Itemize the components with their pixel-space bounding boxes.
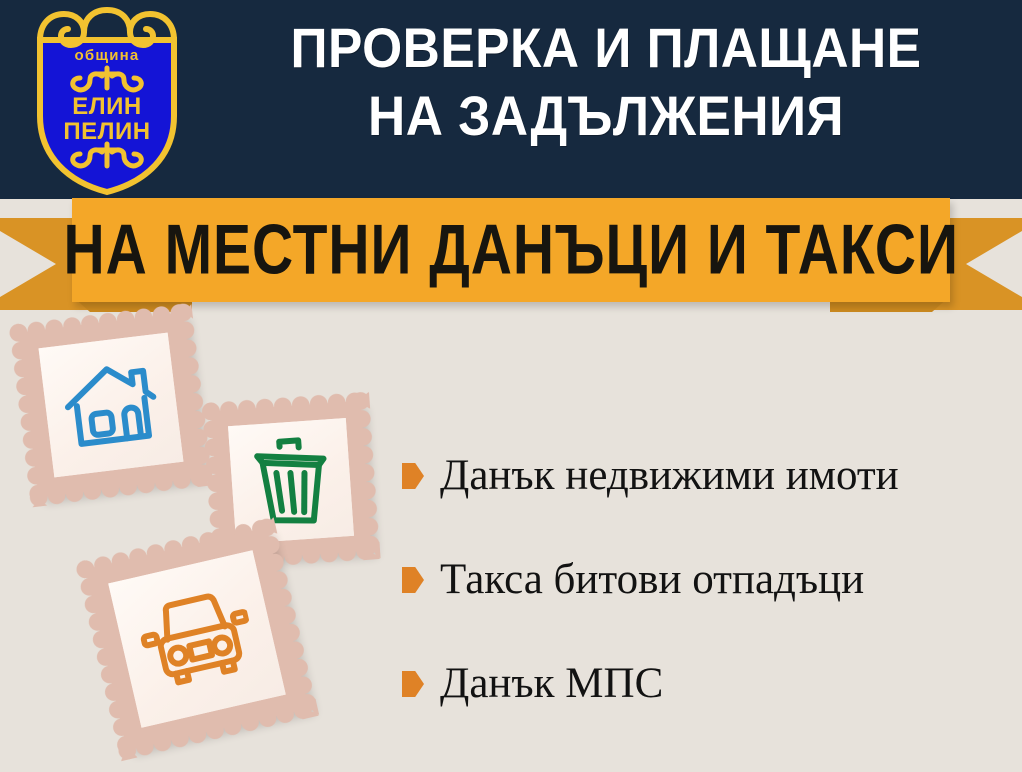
page-title: ПРОВЕРКА И ПЛАЩАНЕ НА ЗАДЪЛЖЕНИЯ bbox=[229, 14, 983, 150]
header-bar: община ЕЛИН ПЕЛИН ПРОВЕРКА И ПЛАЩАНЕ НА … bbox=[0, 0, 1022, 199]
stamp-paper bbox=[108, 550, 285, 727]
house-icon bbox=[58, 354, 164, 455]
ribbon-label: НА МЕСТНИ ДАНЪЦИ И ТАКСИ bbox=[63, 215, 958, 286]
page-title-line-1: ПРОВЕРКА И ПЛАЩАНЕ bbox=[229, 14, 983, 82]
stamp-card-property bbox=[19, 313, 204, 498]
stamp-card-vehicle bbox=[85, 527, 308, 750]
trash-can-icon bbox=[248, 434, 334, 527]
tax-type-list: Данък недвижими имоти Такса битови отпад… bbox=[402, 424, 1014, 736]
ribbon-band: НА МЕСТНИ ДАНЪЦИ И ТАКСИ bbox=[72, 198, 950, 302]
stamp-edge-right bbox=[351, 391, 381, 560]
list-item-label: Данък недвижими имоти bbox=[440, 453, 899, 499]
crest-text-pelin: ПЕЛИН bbox=[63, 118, 150, 145]
coat-of-arms-elin-pelin: община ЕЛИН ПЕЛИН bbox=[18, 4, 196, 196]
list-item-label: Такса битови отпадъци bbox=[440, 557, 864, 603]
list-item[interactable]: Данък МПС bbox=[402, 632, 1014, 736]
crest-text-elin: ЕЛИН bbox=[72, 93, 141, 120]
stamp-paper bbox=[39, 333, 184, 478]
ribbon-banner: НА МЕСТНИ ДАНЪЦИ И ТАКСИ bbox=[0, 196, 1022, 314]
arrow-bullet-icon bbox=[402, 671, 424, 697]
car-icon bbox=[133, 582, 261, 696]
list-item[interactable]: Данък недвижими имоти bbox=[402, 424, 1014, 528]
crest-text-obshtina: община bbox=[75, 47, 140, 64]
list-item[interactable]: Такса битови отпадъци bbox=[402, 528, 1014, 632]
list-item-label: Данък МПС bbox=[440, 661, 663, 707]
poster-canvas: община ЕЛИН ПЕЛИН ПРОВЕРКА И ПЛАЩАНЕ НА … bbox=[0, 0, 1022, 772]
arrow-bullet-icon bbox=[402, 567, 424, 593]
page-title-line-2: НА ЗАДЪЛЖЕНИЯ bbox=[229, 82, 983, 150]
arrow-bullet-icon bbox=[402, 463, 424, 489]
